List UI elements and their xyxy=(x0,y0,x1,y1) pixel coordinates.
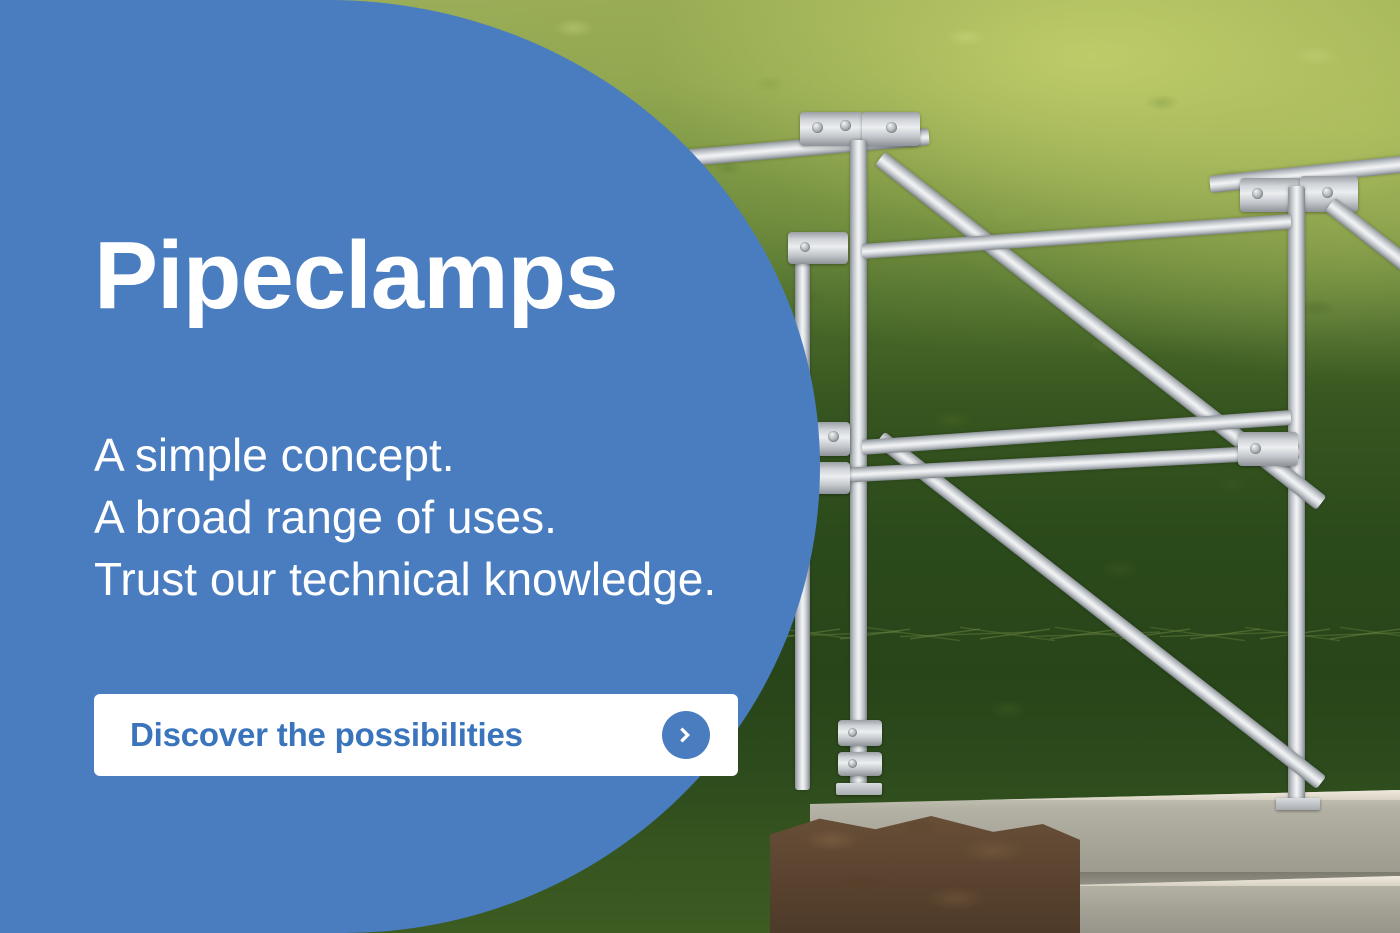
page-title: Pipeclamps xyxy=(94,228,618,324)
key-clamp-fitting xyxy=(838,752,882,776)
clamp-bolt xyxy=(828,431,839,442)
subtitle-line-1: A simple concept. xyxy=(94,424,716,486)
post-base-plate xyxy=(1276,798,1320,810)
subtitle-line-2: A broad range of uses. xyxy=(94,486,716,548)
clamp-bolt xyxy=(1322,187,1333,198)
cta-button-label: Discover the possibilities xyxy=(130,716,523,754)
clamp-bolt xyxy=(1252,188,1263,199)
clamp-bolt xyxy=(848,759,857,768)
discover-possibilities-button[interactable]: Discover the possibilities xyxy=(94,694,738,776)
subtitle-line-3: Trust our technical knowledge. xyxy=(94,548,716,610)
clamp-bolt xyxy=(840,120,851,131)
clamp-bolt xyxy=(848,728,857,737)
clamp-bolt xyxy=(886,122,897,133)
post-base-plate xyxy=(836,783,882,795)
promo-banner: Pipeclamps A simple concept. A broad ran… xyxy=(0,0,1400,933)
handrail-post-left xyxy=(850,140,867,790)
key-clamp-fitting xyxy=(1238,432,1298,466)
subtitle-block: A simple concept. A broad range of uses.… xyxy=(94,424,716,610)
banner-content: Pipeclamps A simple concept. A broad ran… xyxy=(0,0,820,933)
clamp-bolt xyxy=(1250,443,1261,454)
chevron-right-icon xyxy=(662,711,710,759)
key-clamp-fitting xyxy=(838,720,882,746)
